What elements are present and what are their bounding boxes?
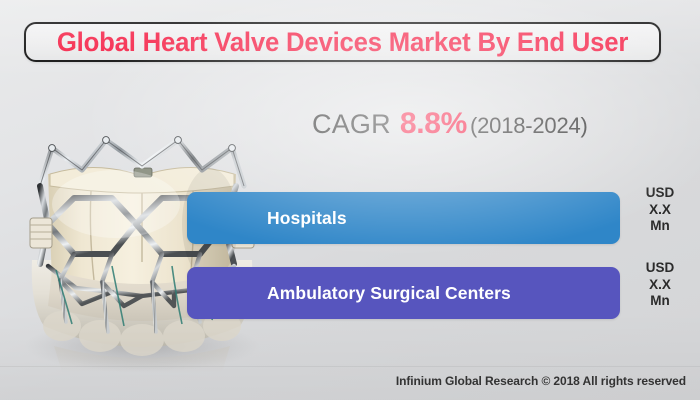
cagr-label: CAGR (312, 109, 391, 140)
bar-ambulatory-surgical-centers: Ambulatory Surgical Centers (187, 267, 620, 319)
bar-value-hospitals: USD X.X Mn (630, 185, 690, 235)
bar-value-hospitals-line1: USD (630, 185, 690, 202)
title-banner: Global Heart Valve Devices Market By End… (24, 22, 661, 62)
bar-value-hospitals-line3: Mn (630, 218, 690, 235)
cagr-value: 8.8% (400, 107, 467, 141)
bar-label-ambulatory-surgical-centers: Ambulatory Surgical Centers (187, 283, 511, 304)
bar-value-ambulatory-line1: USD (630, 260, 690, 277)
page-title: Global Heart Valve Devices Market By End… (57, 29, 628, 56)
footer-divider (0, 366, 700, 367)
bar-value-ambulatory-surgical-centers: USD X.X Mn (630, 260, 690, 310)
bar-label-hospitals: Hospitals (187, 208, 347, 229)
cagr-period: (2018-2024) (470, 113, 588, 139)
infographic-canvas: Global Heart Valve Devices Market By End… (0, 0, 700, 400)
valve-central-clasp (134, 168, 152, 177)
bar-value-hospitals-line2: X.X (630, 202, 690, 219)
cagr-callout: CAGR 8.8% (2018-2024) (312, 107, 588, 141)
bar-hospitals: Hospitals (187, 192, 620, 244)
bar-value-ambulatory-line3: Mn (630, 293, 690, 310)
bar-value-ambulatory-line2: X.X (630, 277, 690, 294)
footer-credit: Infinium Global Research © 2018 All righ… (396, 374, 686, 388)
